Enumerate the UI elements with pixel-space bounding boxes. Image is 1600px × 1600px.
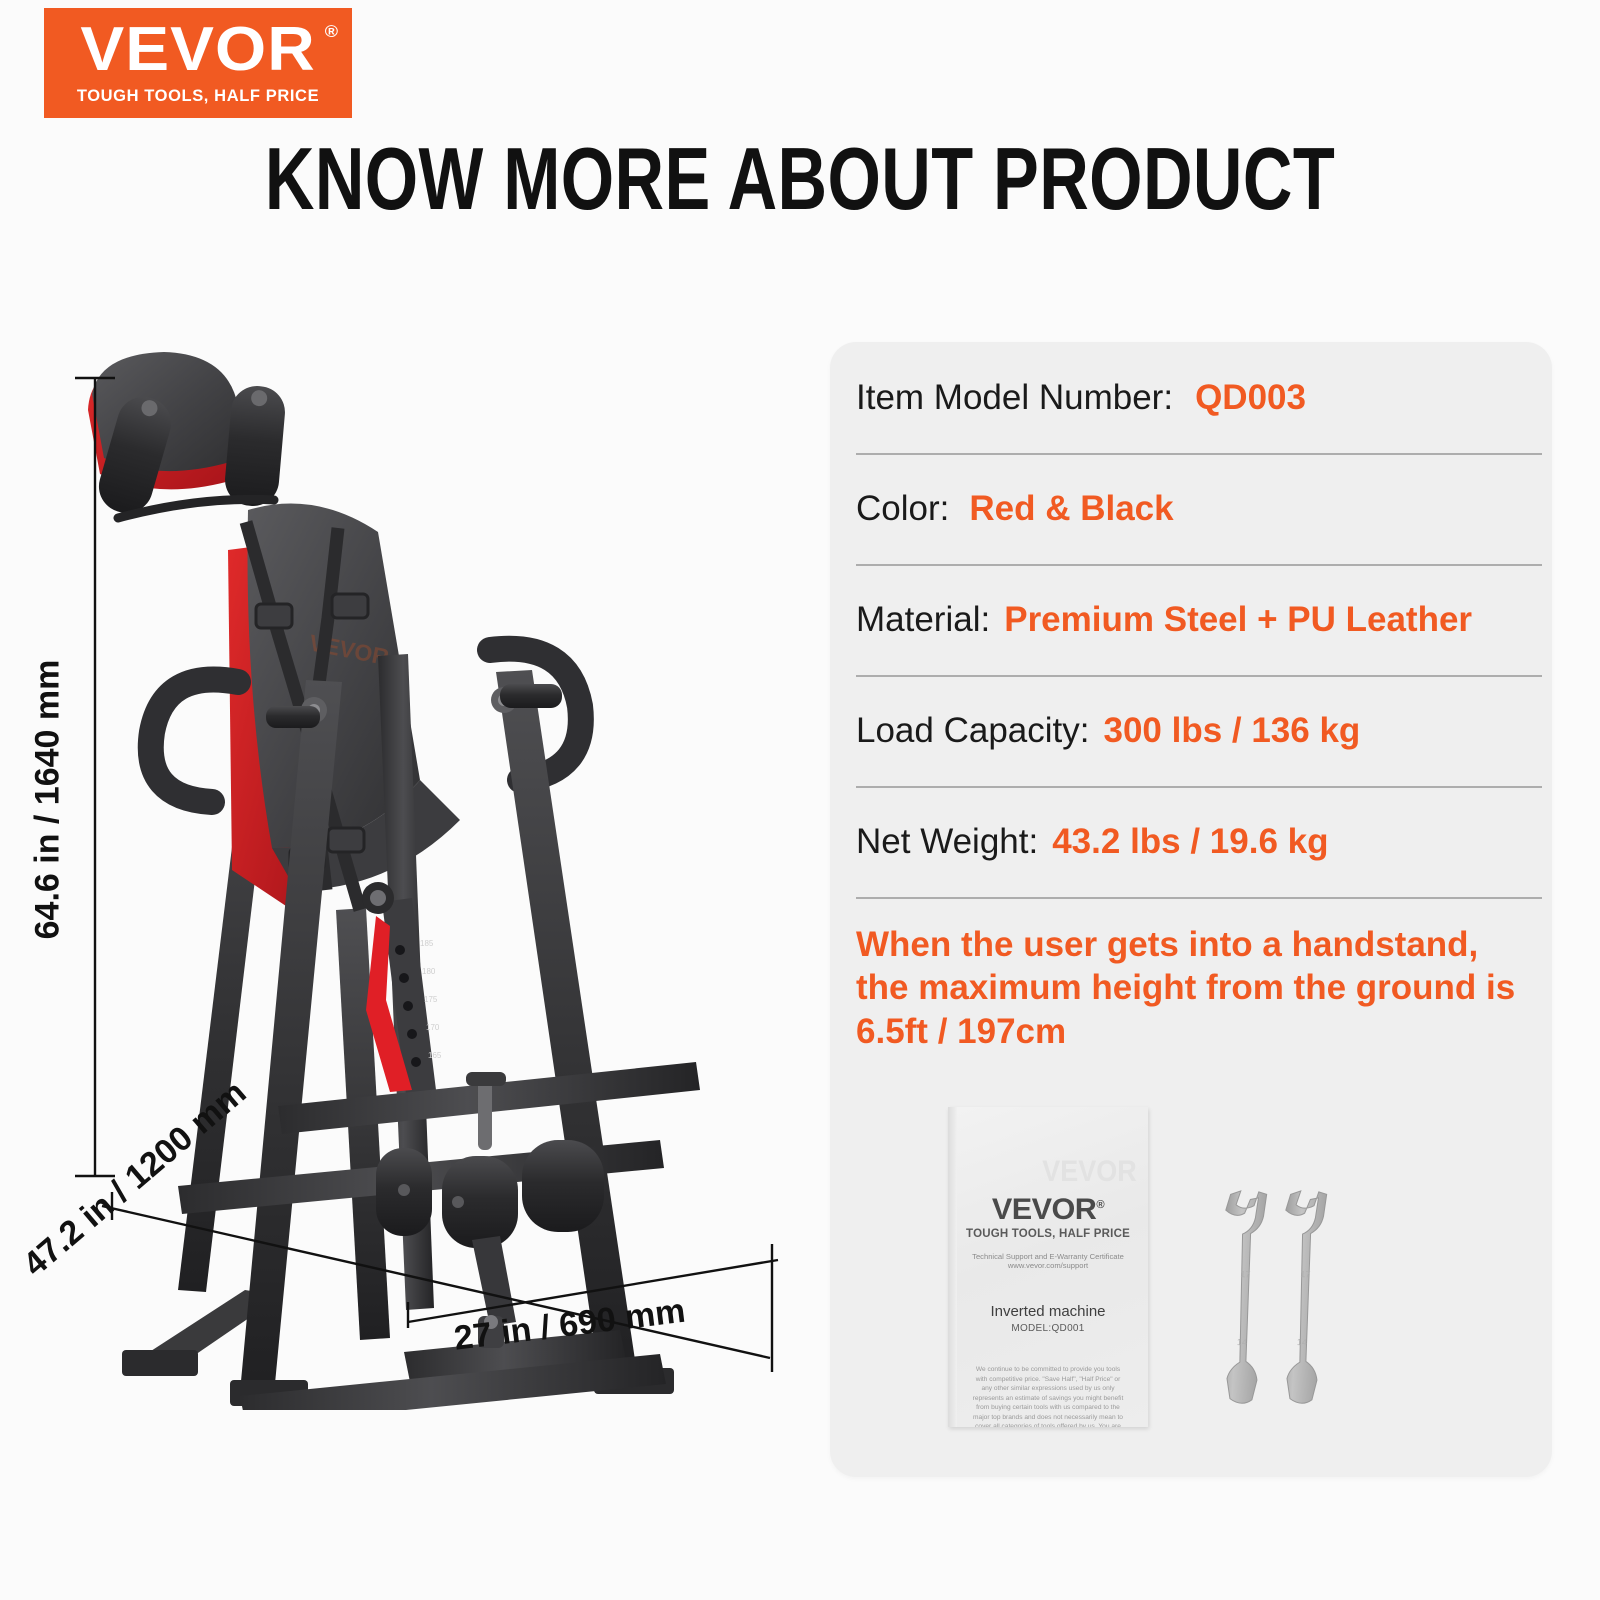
- specification-list: Item Model Number: QD003 Color: Red & Bl…: [842, 342, 1542, 1053]
- svg-text:17: 17: [1240, 1269, 1251, 1280]
- dimension-lines: [0, 300, 800, 1600]
- spec-label: Net Weight:: [856, 822, 1038, 862]
- manual-model-line: MODEL:QD001: [948, 1323, 1148, 1334]
- spec-value: Red & Black: [969, 489, 1173, 529]
- dimension-label-height: 64.6 in / 1640 mm: [29, 630, 68, 970]
- accessories-group: VEVOR VEVOR® TOUGH TOOLS, HALF PRICE Tec…: [948, 1107, 1348, 1447]
- manual-product-name: Inverted machine: [948, 1303, 1148, 1320]
- manual-body-text: We continue to be committed to provide y…: [970, 1365, 1126, 1427]
- brand-wordmark: VEVOR ®: [80, 20, 315, 81]
- brand-logo-badge: VEVOR ® TOUGH TOOLS, HALF PRICE: [44, 8, 352, 118]
- spec-label: Material:: [856, 600, 990, 640]
- manual-support-line: Technical Support and E-Warranty Certifi…: [948, 1252, 1148, 1270]
- brand-name-text: VEVOR: [80, 15, 315, 84]
- svg-text:14: 14: [1297, 1337, 1308, 1348]
- spec-label: Load Capacity:: [856, 711, 1089, 751]
- wrench-icons: 17 14 17 14: [1203, 1177, 1343, 1427]
- spec-value: 43.2 lbs / 19.6 kg: [1052, 822, 1328, 862]
- manual-brand-logo: VEVOR®: [948, 1193, 1148, 1227]
- spec-row-material: Material: Premium Steel + PU Leather: [842, 564, 1542, 675]
- page-title: KNOW MORE ABOUT PRODUCT: [176, 128, 1424, 230]
- spec-label: Item Model Number:: [856, 378, 1173, 418]
- manual-registered-icon: ®: [1096, 1199, 1104, 1211]
- svg-text:17: 17: [1300, 1269, 1311, 1280]
- user-manual-thumbnail: VEVOR VEVOR® TOUGH TOOLS, HALF PRICE Tec…: [948, 1107, 1148, 1427]
- manual-brand-name: VEVOR: [992, 1193, 1097, 1226]
- spec-label: Color:: [856, 489, 949, 529]
- registered-trademark-icon: ®: [325, 24, 339, 41]
- handstand-height-note: When the user gets into a handstand, the…: [842, 897, 1542, 1053]
- specification-card: Item Model Number: QD003 Color: Red & Bl…: [830, 342, 1552, 1477]
- spec-value: Premium Steel + PU Leather: [1004, 600, 1472, 640]
- wrench-icon-1: 17 14: [1216, 1190, 1267, 1404]
- spec-row-net-weight: Net Weight: 43.2 lbs / 19.6 kg: [842, 786, 1542, 897]
- spec-row-load-capacity: Load Capacity: 300 lbs / 136 kg: [842, 675, 1542, 786]
- brand-tagline: TOUGH TOOLS, HALF PRICE: [77, 87, 319, 106]
- spec-row-item-model-number: Item Model Number: QD003: [842, 342, 1542, 453]
- manual-watermark: VEVOR: [1042, 1155, 1137, 1189]
- spec-value: 300 lbs / 136 kg: [1103, 711, 1360, 751]
- spec-row-color: Color: Red & Black: [842, 453, 1542, 564]
- manual-tagline: TOUGH TOOLS, HALF PRICE: [948, 1228, 1148, 1240]
- wrench-icon-2: 17 14: [1276, 1190, 1327, 1404]
- spec-value: QD003: [1195, 378, 1306, 418]
- wrench-pair: 17 14 17 14: [1203, 1177, 1343, 1427]
- svg-text:14: 14: [1237, 1337, 1248, 1348]
